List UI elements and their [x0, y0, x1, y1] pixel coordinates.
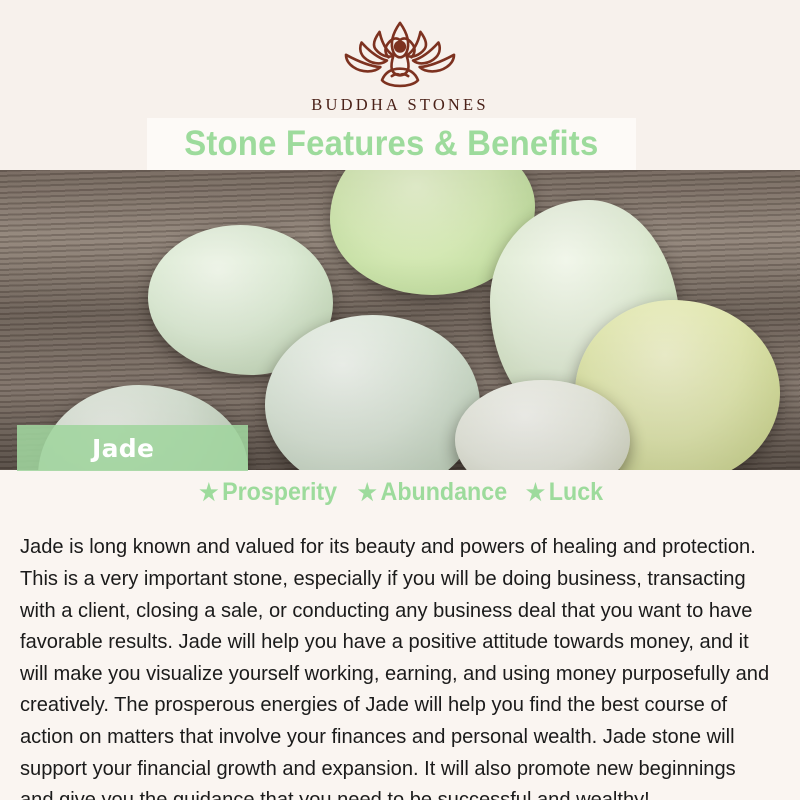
page-title: Stone Features & Benefits [184, 124, 598, 164]
lotus-meditation-icon [334, 18, 466, 90]
benefits-row: ★Prosperity ★Abundance ★Luck [0, 478, 800, 507]
star-icon: ★ [358, 479, 377, 505]
benefit-label: Luck [549, 478, 603, 506]
benefit-item-prosperity: ★Prosperity [199, 478, 337, 507]
benefit-item-abundance: ★Abundance [358, 478, 507, 507]
poster-canvas: BUDDHA STONES Stone Features & Benefits … [0, 0, 800, 800]
brand-logo: BUDDHA STONES [0, 18, 800, 115]
benefit-label: Abundance [381, 478, 508, 506]
stone-description: Jade is long known and valued for its be… [20, 532, 775, 800]
benefit-label: Prosperity [222, 478, 337, 506]
title-banner: Stone Features & Benefits [147, 118, 636, 170]
content-area: ★Prosperity ★Abundance ★Luck Jade is lon… [0, 470, 800, 800]
benefit-item-luck: ★Luck [526, 478, 603, 507]
star-icon: ★ [526, 479, 545, 505]
stone-name-label: Jade [92, 434, 154, 463]
star-icon: ★ [199, 479, 218, 505]
brand-name: BUDDHA STONES [0, 95, 800, 115]
stone-name-band: Jade [17, 425, 248, 471]
